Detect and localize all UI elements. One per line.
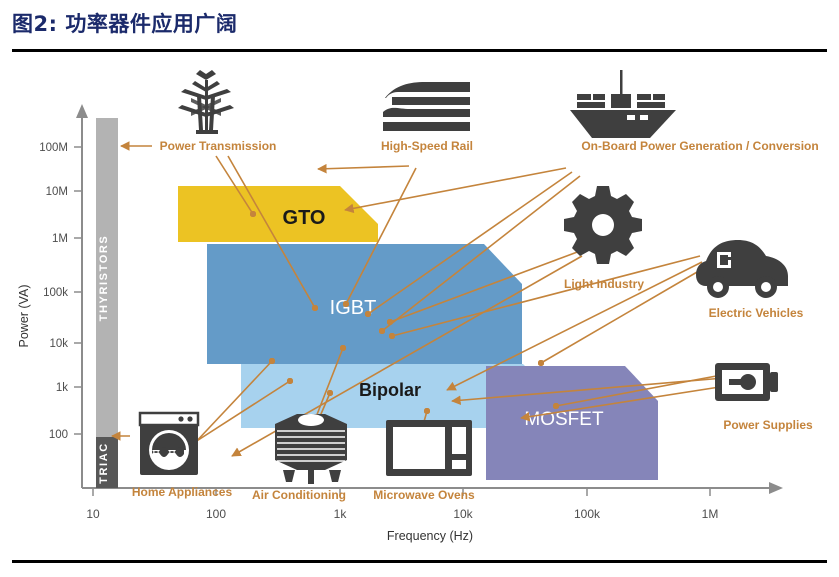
annotation-label-power-transmission: Power Transmission (160, 139, 277, 153)
annotation-label-home-appliances: Home Appliances (132, 485, 233, 499)
annotation-label-power-supplies: Power Supplies (723, 418, 813, 432)
device-family-bar: THYRISTORS TRIAC (96, 118, 118, 488)
y-axis-arrowhead (76, 104, 88, 118)
annotation-microwave-ovens: Microwave Ovens (373, 420, 475, 502)
transmission-tower-icon (178, 70, 234, 134)
power-plug-icon (715, 363, 778, 401)
y-tick-label: 10M (46, 186, 68, 198)
x-tick-label: 10 (86, 507, 100, 521)
annotation-label-onboard-power: On-Board Power Generation / Conversion (581, 139, 818, 153)
x-tick-label: 1k (334, 507, 348, 521)
y-tick-label: 100M (39, 142, 68, 154)
power-device-application-chart: 100M 10M 1M 100k 10k 1k 100 10 100 1k 10… (0, 56, 839, 556)
bottom-divider (12, 560, 827, 563)
microwave-icon (386, 420, 472, 476)
region-label-igbt: IGBT (330, 297, 377, 319)
electric-car-icon (696, 240, 788, 298)
annotation-high-speed-rail: High-Speed Rail (381, 82, 473, 153)
triac-bar-label: TRIAC (98, 442, 110, 484)
annotation-label-light-industry: Light Industry (564, 277, 644, 291)
x-tick-label: 100 (206, 507, 226, 521)
y-tick-label: 10k (49, 338, 68, 350)
annotation-label-high-speed-rail: High-Speed Rail (381, 139, 473, 153)
region-label-bipolar: Bipolar (359, 380, 421, 400)
annotation-label-air-conditioning: Air Conditioning (252, 488, 346, 502)
region-bipolar-seam (241, 364, 522, 365)
x-tick-label: 1M (702, 507, 719, 521)
x-tick-label: 10k (453, 507, 473, 521)
thyristors-bar-label: THYRISTORS (98, 235, 110, 322)
x-tick-label: 100k (574, 507, 601, 521)
title-divider (12, 49, 827, 52)
region-gto (178, 186, 378, 242)
leader-rail-gto (318, 166, 409, 169)
leader-ship-gto (345, 168, 566, 210)
train-icon (383, 82, 470, 131)
y-tick-label: 1k (56, 382, 68, 394)
annotation-electric-vehicles: Electric Vehicles (696, 240, 804, 320)
air-conditioner-icon (275, 414, 347, 484)
figure-page: 图2: 功率器件应用广阔 (0, 0, 839, 577)
y-tick-label: 1M (52, 233, 68, 245)
y-tick-label: 100k (43, 287, 68, 299)
annotation-power-supplies: Power Supplies (715, 363, 813, 432)
annotation-home-appliances: Home Appliances (132, 413, 233, 499)
region-label-gto: GTO (283, 207, 326, 229)
region-label-mosfet: MOSFET (524, 409, 604, 430)
annotation-label-electric-vehicles: Electric Vehicles (709, 306, 804, 320)
y-tick-label: 100 (49, 429, 68, 441)
x-axis-title: Frequency (Hz) (387, 529, 473, 543)
washing-machine-icon (140, 413, 198, 475)
x-axis-arrowhead (769, 482, 783, 494)
y-axis-title: Power (VA) (17, 285, 31, 348)
annotation-power-transmission: Power Transmission (160, 70, 277, 153)
ship-icon (570, 70, 676, 138)
annotation-label-microwave-ovens: Microwave Ovens (373, 488, 475, 502)
annotation-onboard-power: On-Board Power Generation / Conversion (570, 70, 819, 153)
annotation-light-industry: Light Industry (564, 186, 644, 291)
page-title: 图2: 功率器件应用广阔 (12, 8, 237, 38)
